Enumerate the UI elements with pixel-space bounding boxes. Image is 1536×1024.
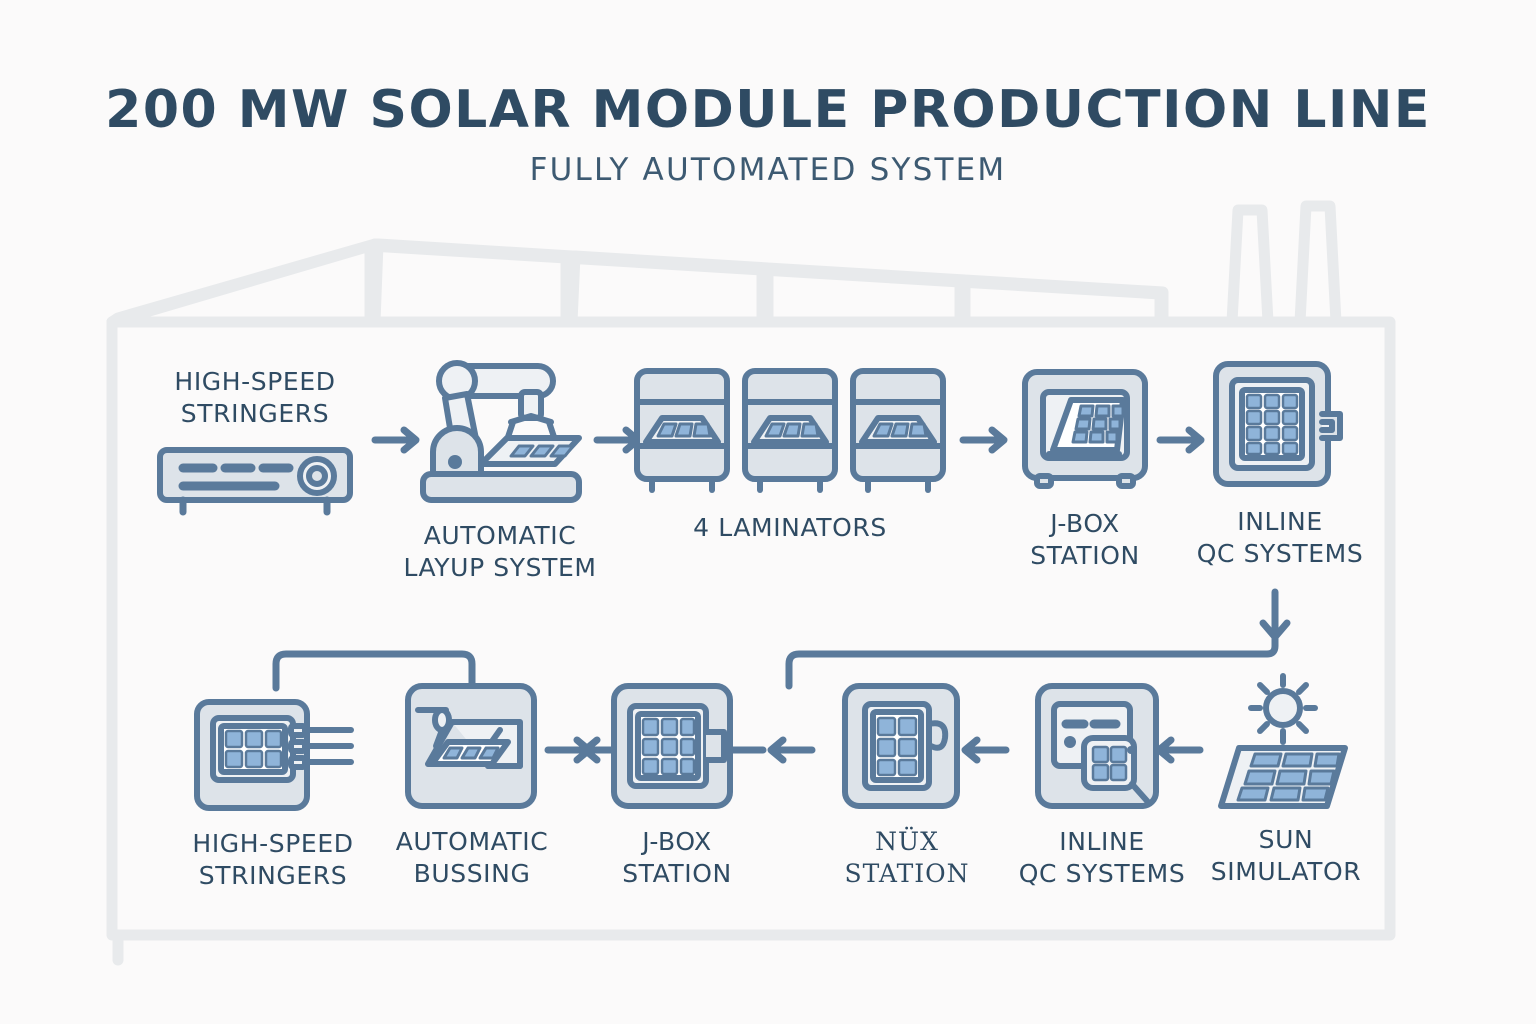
laminator-icon — [632, 366, 732, 494]
station-j-box-station[interactable]: J-BOX STATION — [1000, 366, 1170, 572]
stringer-wires-icon — [191, 686, 356, 816]
page-title: 200 MW SOLAR MODULE PRODUCTION LINE — [0, 80, 1536, 140]
arrow-row1-3 — [963, 430, 1004, 450]
station-automatic-layup-system[interactable]: AUTOMATIC LAYUP SYSTEM — [400, 358, 600, 584]
arrow-row2-3 — [771, 740, 812, 760]
jbox-machine-icon — [1019, 366, 1151, 494]
station-laminators[interactable]: 4 LAMINATORS — [630, 366, 950, 544]
page-subtitle: FULLY AUTOMATED SYSTEM — [0, 152, 1536, 188]
qc-magnifier-icon — [1032, 680, 1172, 814]
station-label: J-BOX STATION — [592, 826, 762, 890]
arrow-row1-to-row2 — [1263, 592, 1287, 637]
station-label: HIGH-SPEED STRINGERS — [155, 366, 355, 430]
sun-panel-icon — [1211, 672, 1361, 814]
station-label: INLINE QC SYSTEMS — [1012, 826, 1192, 890]
laminator-icon — [740, 366, 840, 494]
laminator-icon — [848, 366, 948, 494]
nux-panel-icon — [839, 680, 975, 814]
jbox-panel-icon — [608, 680, 746, 814]
station-nux-station[interactable]: NÜX STATION — [822, 680, 992, 890]
station-label: NÜX STATION — [822, 826, 992, 890]
stringer-machine-icon — [155, 444, 355, 516]
robot-arm-icon — [415, 358, 585, 508]
station-high-speed-stringers-2[interactable]: HIGH-SPEED STRINGERS — [168, 686, 378, 892]
station-label: HIGH-SPEED STRINGERS — [168, 828, 378, 892]
station-automatic-bussing[interactable]: AUTOMATIC BUSSING — [382, 680, 562, 890]
station-label: AUTOMATIC LAYUP SYSTEM — [400, 520, 600, 584]
station-sun-simulator[interactable]: SUN SIMULATOR — [1196, 672, 1376, 888]
station-inline-qc-systems[interactable]: INLINE QC SYSTEMS — [1190, 358, 1370, 570]
station-j-box-station-2[interactable]: J-BOX STATION — [592, 680, 762, 890]
station-high-speed-stringers[interactable]: HIGH-SPEED STRINGERS — [155, 366, 355, 516]
station-label: SUN SIMULATOR — [1196, 824, 1376, 888]
station-label: 4 LAMINATORS — [630, 512, 950, 544]
panel-tester-icon — [1210, 358, 1350, 494]
station-inline-qc-systems-2[interactable]: INLINE QC SYSTEMS — [1012, 680, 1192, 890]
station-label: INLINE QC SYSTEMS — [1190, 506, 1370, 570]
bussing-icon — [402, 680, 542, 814]
station-label: J-BOX STATION — [1000, 508, 1170, 572]
station-label: AUTOMATIC BUSSING — [382, 826, 562, 890]
infographic-canvas: 200 MW SOLAR MODULE PRODUCTION LINE FULL… — [0, 0, 1536, 1024]
